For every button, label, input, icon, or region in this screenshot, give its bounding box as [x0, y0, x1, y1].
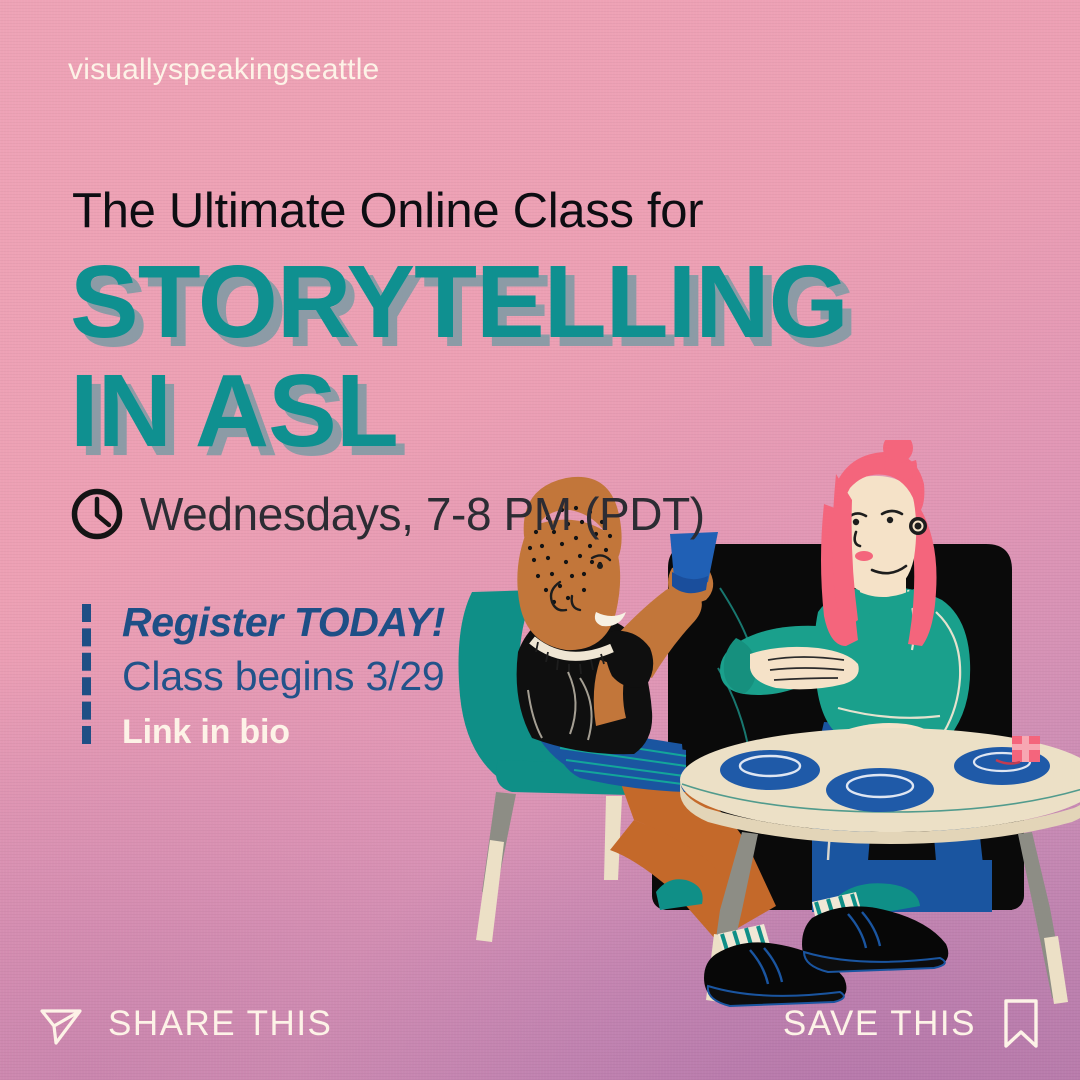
headline-line-1: STORYTELLING: [70, 244, 848, 359]
schedule-text: Wednesdays, 7-8 PM (PDT): [140, 487, 705, 541]
paper-plane-icon: [36, 999, 86, 1049]
clock-icon: [70, 487, 124, 541]
headline-kicker: The Ultimate Online Class for: [72, 183, 703, 239]
poster-canvas: visuallyspeakingseattle The Ultimate Onl…: [0, 0, 1080, 1080]
text-layer: visuallyspeakingseattle The Ultimate Onl…: [0, 0, 1080, 1080]
share-this-button[interactable]: SHARE THIS: [36, 999, 332, 1049]
cta-block: Register TODAY! Class begins 3/29 Link i…: [82, 598, 445, 754]
save-this-label: SAVE THIS: [783, 1004, 976, 1044]
account-handle: visuallyspeakingseattle: [68, 53, 379, 87]
share-this-label: SHARE THIS: [108, 1004, 332, 1044]
page-title: STORYTELLING IN ASL: [70, 252, 848, 462]
headline-line-2: IN ASL: [70, 361, 848, 462]
save-this-button[interactable]: SAVE THIS: [783, 996, 1044, 1052]
cta-start-date: Class begins 3/29: [122, 650, 445, 703]
bookmark-icon: [998, 996, 1044, 1052]
schedule-row: Wednesdays, 7-8 PM (PDT): [70, 487, 705, 541]
cta-link-in-bio: Link in bio: [122, 710, 445, 754]
footer-bar: SHARE THIS SAVE THIS: [0, 994, 1080, 1054]
cta-headline: Register TODAY!: [122, 598, 445, 646]
